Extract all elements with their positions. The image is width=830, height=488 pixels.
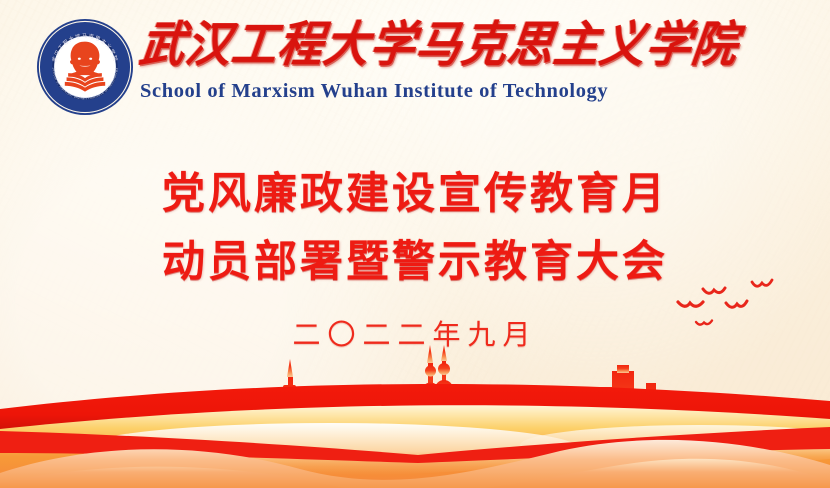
poster-canvas: 武汉工程大学马克思主义学院 School of Marxism Wuhan In… (0, 0, 830, 488)
organization-names: 武汉工程大学马克思主义学院 School of Marxism Wuhan In… (140, 14, 680, 103)
org-name-english: School of Marxism Wuhan Institute of Tec… (140, 80, 680, 103)
main-title-block: 党风廉政建设宣传教育月 动员部署暨警示教育大会 (0, 160, 830, 296)
header-band: 武汉工程大学马克思主义学院 School of Marxism Wuhan In… (0, 0, 830, 120)
org-name-chinese: 武汉工程大学马克思主义学院 (136, 12, 684, 79)
city-skyline-scene (0, 323, 830, 488)
marxism-school-emblem-icon: 武汉工程大学马克思主义学院 School of Marxism Wuhan In… (36, 18, 134, 116)
title-line-1: 党风廉政建设宣传教育月 (0, 160, 830, 228)
